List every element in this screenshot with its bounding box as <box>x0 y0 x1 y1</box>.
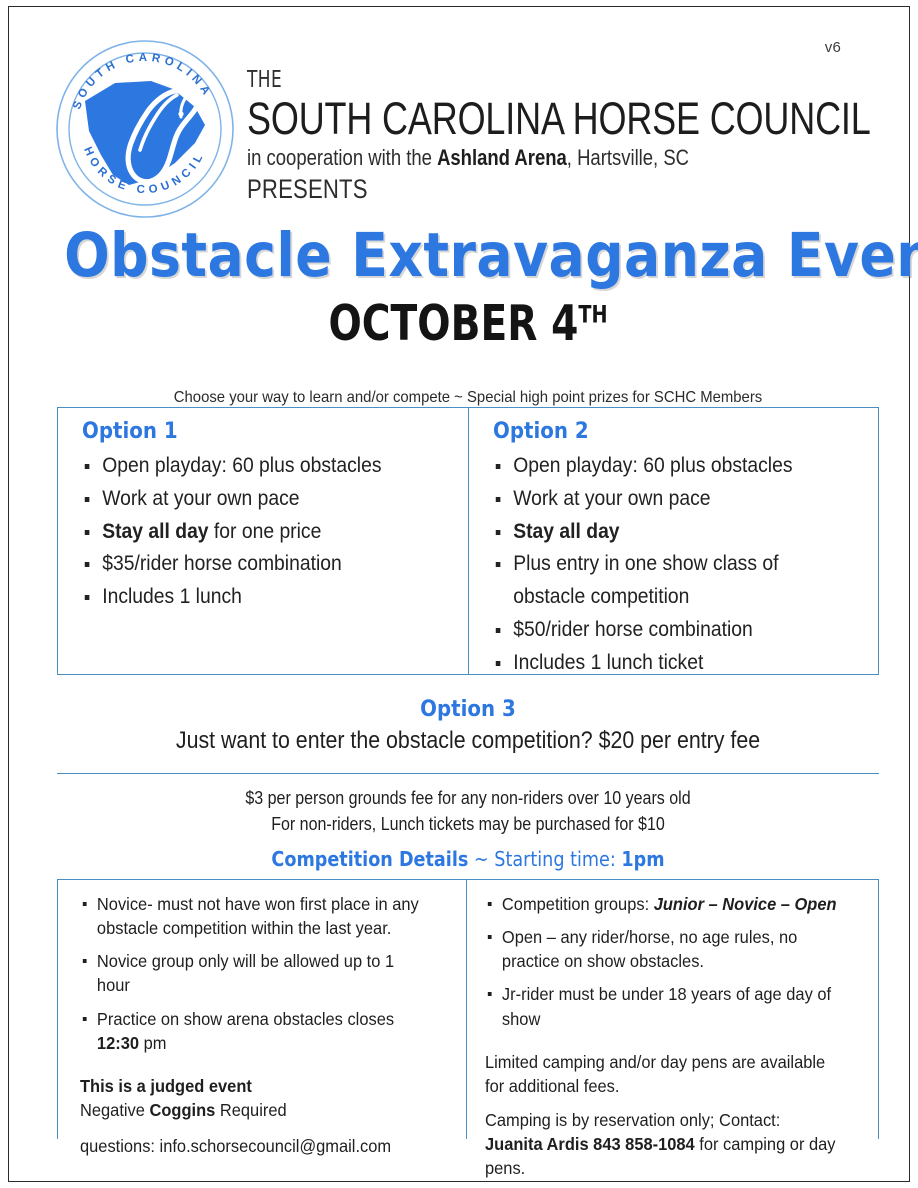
item-italic: Junior – Novice – Open <box>653 894 836 914</box>
item-text: Competition groups: <box>501 894 653 914</box>
details-container: Novice- must not have won first place in… <box>57 879 879 1139</box>
option-1-card: Option 1 Open playday: 60 plus obstacles… <box>58 408 468 674</box>
divider-rule <box>57 773 879 774</box>
list-item: Stay all day for one price <box>82 516 437 549</box>
list-item: Practice on show arena obstacles closes … <box>80 1007 431 1055</box>
competition-details-label: Competition Details <box>271 847 468 871</box>
item-text: for one price <box>209 520 322 543</box>
option-1-title: Option 1 <box>82 419 429 444</box>
fees-block: $3 per person grounds fee for any non-ri… <box>59 785 876 837</box>
questions-email: questions: info.schorsecouncil@gmail.com <box>80 1136 431 1157</box>
event-date: OCTOBER 4TH <box>101 299 835 348</box>
item-text: $35/rider horse combination <box>102 552 342 575</box>
list-item: Work at your own pace <box>493 483 848 516</box>
item-bold: 12:30 <box>97 1033 139 1053</box>
list-item: Novice- must not have won first place in… <box>80 892 431 940</box>
option-1-list: Open playday: 60 plus obstacles Work at … <box>82 450 468 614</box>
item-text: Open – any rider/horse, no age rules, no… <box>501 927 796 971</box>
header-the: THE <box>247 69 788 92</box>
horse-council-seal-icon: SOUTH CAROLINA HORSE COUNCIL <box>55 39 235 219</box>
coop-suffix: , Hartsville, SC <box>567 145 689 170</box>
item-bold: Stay all day <box>102 520 208 543</box>
header-text-block: THE SOUTH CAROLINA HORSE COUNCIL in coop… <box>247 69 907 204</box>
details-right-list: Competition groups: Junior – Novice – Op… <box>485 892 870 1031</box>
header-cooperation: in cooperation with the Ashland Arena, H… <box>247 145 801 170</box>
list-item: Work at your own pace <box>82 483 437 516</box>
item-text: Work at your own pace <box>102 487 299 510</box>
flyer-page: v6 SOUTH CAROLINA <box>0 0 918 1188</box>
camping-line-3: Camping is by reservation only; Contact: <box>485 1108 847 1132</box>
item-text: Includes 1 lunch <box>102 585 242 608</box>
camping-contact: Juanita Ardis 843 858-1084 for camping o… <box>485 1132 847 1180</box>
coop-prefix: in cooperation with the <box>247 145 437 170</box>
option-3-description: Just want to enter the obstacle competit… <box>59 727 876 755</box>
list-item: Open playday: 60 plus obstacles <box>493 450 848 483</box>
header-presents: PRESENTS <box>247 175 788 205</box>
fees-line-1: $3 per person grounds fee for any non-ri… <box>59 785 876 811</box>
item-text: Practice on show arena obstacles closes <box>97 1009 394 1029</box>
competition-separator: ~ <box>468 847 494 871</box>
list-item: Novice group only will be allowed up to … <box>80 949 431 997</box>
item-suffix: pm <box>139 1033 166 1053</box>
option-2-title: Option 2 <box>493 419 840 444</box>
item-text: Jr-rider must be under 18 years of age d… <box>501 984 830 1028</box>
list-item: Includes 1 lunch <box>82 581 437 614</box>
options-container: Option 1 Open playday: 60 plus obstacles… <box>57 407 879 675</box>
tagline: Choose your way to learn and/or compete … <box>41 389 895 407</box>
coop-venue: Ashland Arena <box>437 145 567 170</box>
header-organization: SOUTH CAROLINA HORSE COUNCIL <box>247 94 775 144</box>
version-mark: v6 <box>825 39 841 56</box>
spacer <box>80 1064 454 1074</box>
details-left-list: Novice- must not have won first place in… <box>80 892 454 1055</box>
spacer <box>485 1098 870 1108</box>
starting-time-label: Starting time: <box>494 847 621 871</box>
event-date-ordinal: TH <box>578 301 607 329</box>
list-item: Competition groups: Junior – Novice – Op… <box>485 892 847 916</box>
option-2-card: Option 2 Open playday: 60 plus obstacles… <box>468 408 879 674</box>
contact-name: Juanita Ardis 843 858-1084 <box>485 1134 695 1154</box>
flyer-sheet: v6 SOUTH CAROLINA <box>8 6 910 1182</box>
coggins-line: Negative Coggins Required <box>80 1098 431 1122</box>
option-3-title: Option 3 <box>55 697 881 722</box>
spacer <box>80 1122 454 1136</box>
coggins-bold: Coggins <box>150 1100 216 1120</box>
camping-line-1: Limited camping and/or day pens are avai… <box>485 1050 847 1074</box>
event-title: Obstacle Extravaganza Event <box>64 225 872 286</box>
list-item: Open playday: 60 plus obstacles <box>82 450 437 483</box>
option-2-list: Open playday: 60 plus obstacles Work at … <box>493 450 879 679</box>
list-item: Plus entry in one show class of obstacle… <box>493 548 848 614</box>
coggins-suffix: Required <box>215 1100 286 1120</box>
item-text: Plus entry in one show class of obstacle… <box>513 552 778 608</box>
list-item: Open – any rider/horse, no age rules, no… <box>485 925 847 973</box>
judged-event-line: This is a judged event <box>80 1074 431 1098</box>
item-text: $50/rider horse combination <box>513 618 753 641</box>
item-text: Work at your own pace <box>513 487 710 510</box>
item-text: Includes 1 lunch ticket <box>513 651 703 674</box>
list-item: $35/rider horse combination <box>82 548 437 581</box>
list-item: $50/rider horse combination <box>493 614 848 647</box>
item-text: Novice- must not have won first place in… <box>97 894 419 938</box>
details-left-card: Novice- must not have won first place in… <box>58 880 466 1139</box>
list-item: Includes 1 lunch ticket <box>493 647 848 680</box>
list-item: Stay all day <box>493 516 848 549</box>
item-text: Open playday: 60 plus obstacles <box>102 454 381 477</box>
list-item: Jr-rider must be under 18 years of age d… <box>485 982 847 1030</box>
item-bold: Stay all day <box>513 520 619 543</box>
starting-time-value: 1pm <box>621 847 664 871</box>
details-right-card: Competition groups: Junior – Novice – Op… <box>466 880 878 1139</box>
fees-line-2: For non-riders, Lunch tickets may be pur… <box>59 811 876 837</box>
item-text: Open playday: 60 plus obstacles <box>513 454 792 477</box>
camping-line-2: for additional fees. <box>485 1074 847 1098</box>
event-date-month: OCTOBER 4 <box>328 295 578 352</box>
coggins-prefix: Negative <box>80 1100 150 1120</box>
schc-logo: SOUTH CAROLINA HORSE COUNCIL <box>55 39 235 219</box>
competition-details-header: Competition Details ~ Starting time: 1pm <box>64 847 872 871</box>
item-text: Novice group only will be allowed up to … <box>97 951 394 995</box>
spacer <box>485 1040 870 1050</box>
